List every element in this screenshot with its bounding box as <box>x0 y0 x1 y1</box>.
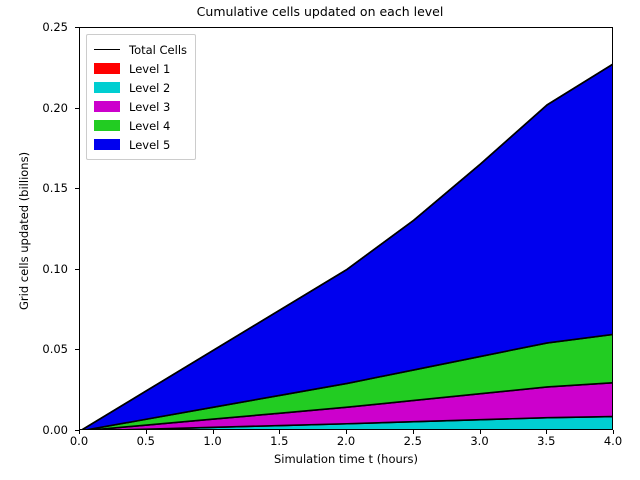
y-tick-label: 0.25 <box>6 21 68 33</box>
legend-item-level-5[interactable]: Level 5 <box>94 135 187 154</box>
y-tick-label: 0.20 <box>6 102 68 114</box>
legend-item-label: Level 1 <box>129 62 170 76</box>
x-tick-mark <box>613 430 614 434</box>
legend-swatch-icon <box>94 120 120 131</box>
legend-item-level-4[interactable]: Level 4 <box>94 116 187 135</box>
chart-figure: Cumulative cells updated on each level G… <box>0 0 640 480</box>
x-tick-mark <box>480 430 481 434</box>
legend-swatch-icon <box>94 139 120 150</box>
legend-item-level-2[interactable]: Level 2 <box>94 78 187 97</box>
y-tick-label: 0.10 <box>6 263 68 275</box>
x-tick-mark <box>546 430 547 434</box>
x-tick-mark <box>79 430 80 434</box>
x-tick-label: 0.0 <box>49 435 109 447</box>
x-tick-mark <box>213 430 214 434</box>
y-tick-label: 0.15 <box>6 182 68 194</box>
x-tick-mark <box>146 430 147 434</box>
x-tick-label: 3.0 <box>450 435 510 447</box>
x-tick-mark <box>346 430 347 434</box>
legend-item-level-3[interactable]: Level 3 <box>94 97 187 116</box>
y-tick-label: 0.05 <box>6 343 68 355</box>
legend-item-label: Level 5 <box>129 138 170 152</box>
x-tick-label: 3.5 <box>516 435 576 447</box>
legend-swatch-icon <box>94 82 120 93</box>
x-tick-label: 1.5 <box>249 435 309 447</box>
x-tick-label: 4.0 <box>583 435 640 447</box>
x-tick-label: 2.5 <box>383 435 443 447</box>
chart-legend[interactable]: Total CellsLevel 1Level 2Level 3Level 4L… <box>86 34 196 160</box>
legend-item-label: Level 4 <box>129 119 170 133</box>
legend-swatch-icon <box>94 101 120 112</box>
legend-item-label: Level 2 <box>129 81 170 95</box>
chart-title: Cumulative cells updated on each level <box>0 4 640 20</box>
x-tick-mark <box>413 430 414 434</box>
legend-line-icon <box>94 44 120 55</box>
legend-item-level-1[interactable]: Level 1 <box>94 59 187 78</box>
legend-item-label: Level 3 <box>129 100 170 114</box>
legend-item-total-cells[interactable]: Total Cells <box>94 40 187 59</box>
legend-item-label: Total Cells <box>129 43 187 57</box>
x-tick-label: 0.5 <box>116 435 176 447</box>
x-tick-label: 1.0 <box>183 435 243 447</box>
x-axis-label: Simulation time t (hours) <box>79 452 613 466</box>
legend-swatch-icon <box>94 63 120 74</box>
x-tick-mark <box>279 430 280 434</box>
legend-line-stroke <box>94 49 120 50</box>
y-axis-label: Grid cells updated (billions) <box>17 152 31 310</box>
x-tick-label: 2.0 <box>316 435 376 447</box>
